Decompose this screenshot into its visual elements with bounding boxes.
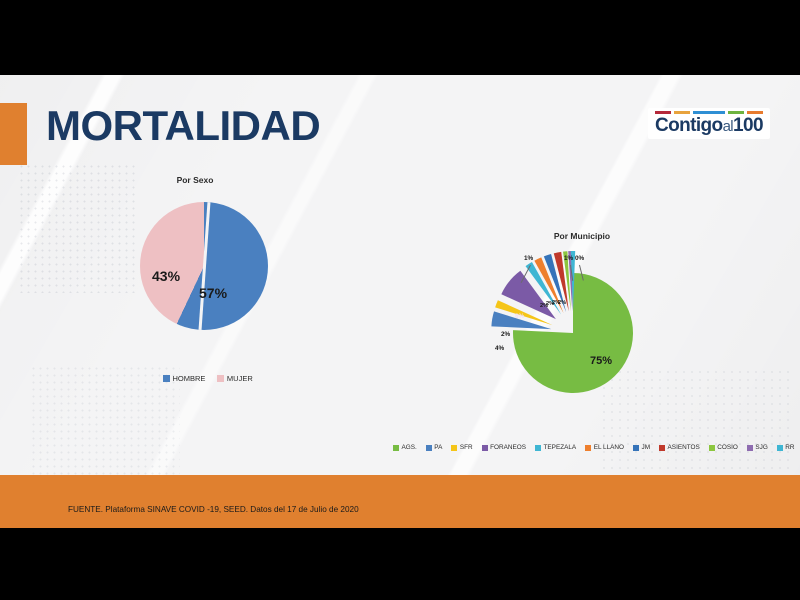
pie-slice-label: 75% bbox=[590, 355, 612, 367]
chart-title-por-sexo: Por Sexo bbox=[150, 175, 240, 185]
legend-item[interactable]: RR bbox=[777, 444, 795, 451]
legend-label: EL LLANO bbox=[594, 444, 624, 451]
logo-text: Contigoal100 bbox=[655, 116, 763, 135]
legend-item[interactable]: PA bbox=[426, 444, 443, 451]
logo-contigo-al-100: Contigoal100 bbox=[648, 108, 770, 139]
pie-chart-por-sexo[interactable] bbox=[140, 202, 268, 330]
legend-por-sexo[interactable]: HOMBREMUJER bbox=[163, 374, 253, 383]
slide-root: MORTALIDAD Contigoal100 Por Sexo 57% 43%… bbox=[0, 0, 800, 600]
logo-bar-2 bbox=[674, 111, 690, 114]
legend-label: FORANEOS bbox=[490, 444, 526, 451]
legend-label: PA bbox=[434, 444, 442, 451]
pie-slice-label-mujer: 43% bbox=[152, 268, 180, 284]
legend-swatch-icon bbox=[535, 445, 541, 451]
legend-item[interactable]: AGS. bbox=[393, 444, 417, 451]
title-accent-bar bbox=[0, 103, 27, 165]
logo-color-bars bbox=[655, 111, 763, 114]
legend-label: MUJER bbox=[227, 374, 253, 383]
legend-label: HOMBRE bbox=[173, 374, 206, 383]
legend-swatch-icon bbox=[451, 445, 457, 451]
background-dot-pattern-lower-left bbox=[30, 365, 180, 475]
page-title: MORTALIDAD bbox=[46, 102, 320, 150]
pie-slice-label: 0% bbox=[575, 255, 584, 262]
legend-swatch-icon bbox=[482, 445, 488, 451]
chart-title-por-municipio: Por Municipio bbox=[527, 231, 637, 241]
pie-slice-label: 1% bbox=[524, 255, 533, 262]
legend-label: COSIO bbox=[717, 444, 738, 451]
slide-canvas: MORTALIDAD Contigoal100 Por Sexo 57% 43%… bbox=[0, 75, 800, 528]
pie-slice-label: 8% bbox=[515, 313, 524, 320]
legend-item[interactable]: SFR bbox=[451, 444, 472, 451]
legend-item[interactable]: ASIENTOS bbox=[659, 444, 700, 451]
legend-swatch-icon bbox=[709, 445, 715, 451]
legend-item[interactable]: HOMBRE bbox=[163, 374, 205, 383]
legend-swatch-icon bbox=[426, 445, 432, 451]
legend-label: TEPEZALA bbox=[544, 444, 577, 451]
logo-text-al: al bbox=[723, 118, 733, 135]
legend-swatch-icon bbox=[393, 445, 399, 451]
legend-item[interactable]: COSIO bbox=[709, 444, 738, 451]
legend-label: RR bbox=[785, 444, 794, 451]
legend-item[interactable]: FORANEOS bbox=[482, 444, 526, 451]
legend-label: ASIENTOS bbox=[668, 444, 700, 451]
logo-text-100: 100 bbox=[733, 115, 763, 136]
letterbox-top bbox=[0, 0, 800, 75]
pie-slice-label: 2% bbox=[501, 331, 510, 338]
pie-slice-label: 2% bbox=[558, 300, 566, 306]
logo-bar-1 bbox=[655, 111, 671, 114]
legend-swatch-icon bbox=[633, 445, 639, 451]
legend-label: SJG bbox=[755, 444, 767, 451]
logo-text-contigo: Contigo bbox=[655, 115, 723, 136]
legend-swatch-icon bbox=[585, 445, 591, 451]
pie-slice-label-hombre: 57% bbox=[199, 285, 227, 301]
legend-swatch-icon bbox=[747, 445, 753, 451]
pie-slice-gap bbox=[199, 202, 210, 330]
letterbox-bottom bbox=[0, 528, 800, 600]
legend-label: SFR bbox=[460, 444, 473, 451]
legend-swatch-icon bbox=[777, 445, 783, 451]
legend-swatch-icon bbox=[217, 375, 224, 382]
legend-swatch-icon bbox=[163, 375, 170, 382]
legend-item[interactable]: EL LLANO bbox=[585, 444, 624, 451]
background-dot-pattern-left bbox=[18, 163, 138, 293]
logo-bar-3 bbox=[693, 111, 725, 114]
legend-label: JM bbox=[642, 444, 651, 451]
footer-band bbox=[0, 475, 800, 528]
legend-label: AGS. bbox=[402, 444, 417, 451]
logo-bar-5 bbox=[747, 111, 763, 114]
legend-item[interactable]: JM bbox=[633, 444, 650, 451]
pie-chart-por-municipio[interactable]: 75%4%2%8%2%2%2%2%1%1%0% bbox=[478, 243, 668, 423]
pie-slice-label: 1% bbox=[564, 255, 573, 262]
pie-slice-label: 4% bbox=[495, 345, 504, 352]
legend-item[interactable]: SJG bbox=[747, 444, 768, 451]
legend-item[interactable]: TEPEZALA bbox=[535, 444, 576, 451]
legend-swatch-icon bbox=[659, 445, 665, 451]
legend-item[interactable]: MUJER bbox=[217, 374, 252, 383]
footer-source-text: FUENTE. Plataforma SINAVE COVID -19, SEE… bbox=[68, 505, 359, 514]
legend-por-municipio[interactable]: AGS.PASFRFORANEOSTEPEZALAEL LLANOJMASIEN… bbox=[393, 444, 795, 451]
logo-bar-4 bbox=[728, 111, 744, 114]
